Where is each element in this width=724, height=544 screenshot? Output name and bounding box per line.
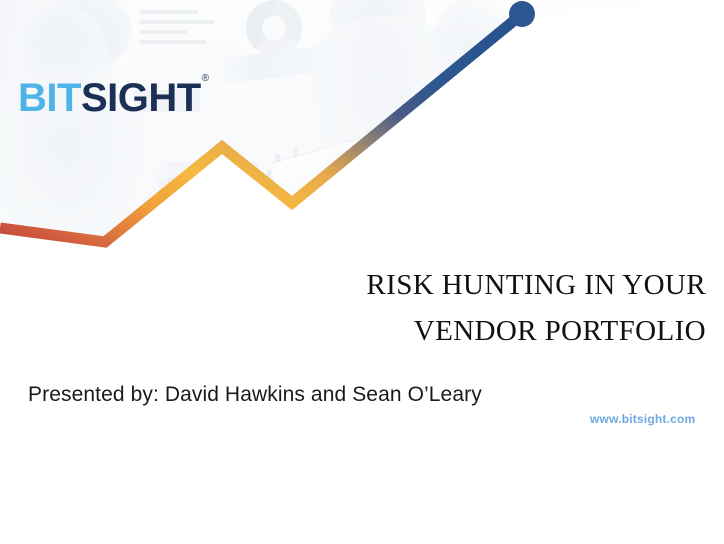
presenter-byline: Presented by: David Hawkins and Sean O’L… [28,383,482,407]
logo-text-sight: SIGHT [81,76,201,120]
presentation-slide: BITSIGHT® RISK HUNTING IN YOUR VENDOR PO… [0,0,724,544]
bitsight-logo: BITSIGHT® [18,78,208,118]
page-title-line-1: RISK HUNTING IN YOUR [16,262,706,308]
logo-text-bit: BIT [18,76,81,120]
website-url[interactable]: www.bitsight.com [590,412,695,426]
hero-banner: BITSIGHT® [0,0,724,260]
hero-photograph [0,0,724,260]
page-title-line-2: VENDOR PORTFOLIO [16,308,706,354]
registered-trademark-icon: ® [202,73,209,84]
photo-person-right-body [408,70,568,260]
page-title: RISK HUNTING IN YOUR VENDOR PORTFOLIO [16,262,706,354]
photo-white-veil [0,0,724,260]
